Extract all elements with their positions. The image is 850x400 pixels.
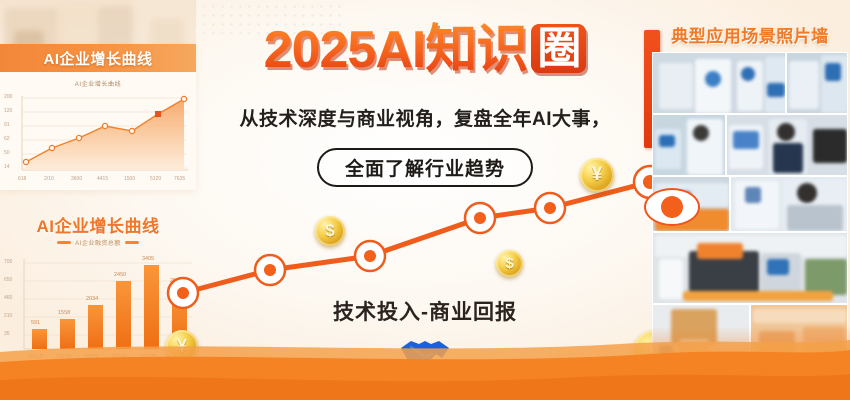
y-tick-1: 14	[4, 164, 10, 170]
photo-tile-7[interactable]	[652, 232, 848, 304]
coin-dollar-left: $	[315, 216, 345, 246]
photo-tile-6[interactable]	[730, 176, 848, 232]
photo-row-2	[652, 114, 848, 176]
legend-swatch	[57, 241, 71, 244]
photo-row-1	[652, 52, 848, 114]
photo-tile-2[interactable]	[786, 52, 848, 114]
card-a-chart-caption: AI企业增长曲线	[0, 79, 196, 88]
bar-y-tick-5: 700	[4, 259, 12, 265]
x-tick-4: 1500	[124, 176, 135, 182]
x-tick-0: 618	[18, 176, 26, 182]
y-tick-2: 50	[4, 150, 10, 156]
bottom-band-svg	[0, 322, 850, 400]
x-tick-3: 4415	[97, 176, 108, 182]
x-tick-1: 2/10	[44, 176, 54, 182]
headline-main: 2025AI知识	[264, 21, 528, 79]
photo-tile-3[interactable]	[652, 114, 726, 176]
y-tick-3: 62	[4, 136, 10, 142]
x-tick-2: 3600	[71, 176, 82, 182]
photo-tile-1[interactable]	[652, 52, 786, 114]
legend-label: AI企业融资总额	[75, 238, 121, 247]
bar-value-3: 2450	[114, 272, 126, 278]
bottom-orange-band	[0, 322, 850, 400]
legend-swatch-2	[125, 241, 139, 244]
coin-yen-top: ¥	[580, 158, 614, 192]
poster-canvas: AI企业增长曲线 AI企业增长曲线	[0, 0, 850, 400]
photo-tile-4[interactable]	[726, 114, 848, 176]
coin-dollar-mid: $	[496, 250, 523, 277]
orange-marker-badge	[644, 188, 700, 226]
headline-boxed-char: 圈	[531, 24, 586, 73]
y-tick-6: 200	[4, 94, 12, 100]
photo-row-4	[652, 232, 848, 304]
bar-y-tick-4: 650	[4, 277, 12, 283]
photo-wall-title: 典型应用场景照片墙	[650, 22, 850, 47]
